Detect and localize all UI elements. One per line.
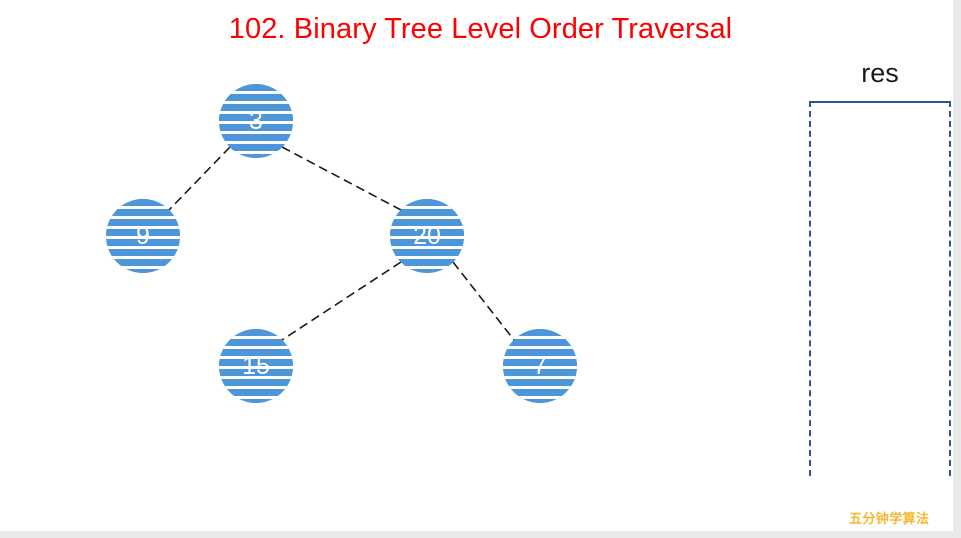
- tree-node-label: 3: [249, 109, 263, 134]
- tree-node-label: 9: [136, 224, 150, 249]
- res-label: res: [809, 58, 951, 89]
- slide-canvas: 102. Binary Tree Level Order Traversal 3…: [0, 0, 961, 538]
- tree-node-15[interactable]: 15: [219, 329, 293, 403]
- tree-node-20[interactable]: 20: [390, 199, 464, 273]
- watermark-text: 五分钟学算法: [849, 508, 929, 527]
- tree-node-7[interactable]: 7: [503, 329, 577, 403]
- tree-edge-n20-n15: [282, 262, 401, 340]
- tree-node-label: 7: [533, 354, 547, 379]
- bottom-edge-strip: [0, 531, 961, 538]
- tree-node-9[interactable]: 9: [106, 199, 180, 273]
- res-panel: [809, 101, 951, 476]
- tree-edge-n3-n20: [282, 147, 401, 210]
- res-items-list: [811, 103, 949, 476]
- right-edge-strip: [953, 0, 961, 538]
- tree-node-label: 20: [413, 224, 441, 249]
- tree-node-label: 15: [242, 354, 270, 379]
- tree-node-3[interactable]: 3: [219, 84, 293, 158]
